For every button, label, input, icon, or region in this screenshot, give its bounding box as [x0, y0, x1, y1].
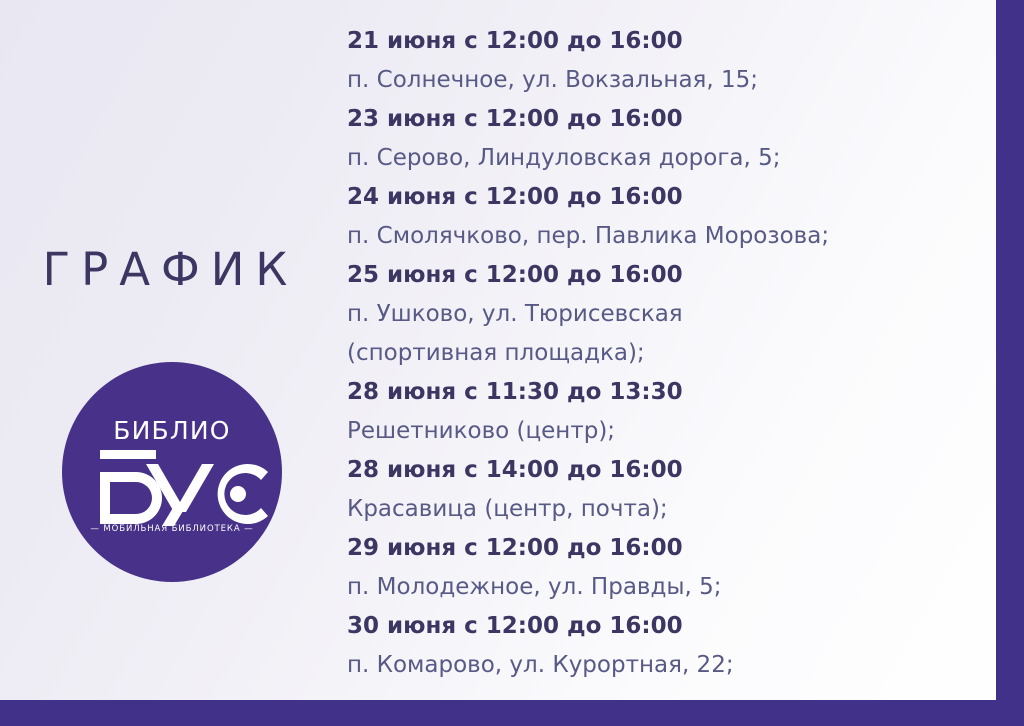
left-column: ГРАФИК БИБЛИО	[0, 0, 330, 700]
logo-word-biblio: БИБЛИО	[62, 418, 282, 443]
entry-date: 24 июня с 12:00 до 16:00	[347, 178, 987, 217]
entry-place: п. Смолячково, пер. Павлика Морозова;	[347, 217, 987, 256]
entry-date: 21 июня с 12:00 до 16:00	[347, 22, 987, 61]
entry-date: 25 июня с 12:00 до 16:00	[347, 256, 987, 295]
logo-tagline: — МОБИЛЬНАЯ БИБЛИОТЕКА —	[62, 525, 282, 534]
bus-wordmark-icon	[62, 446, 282, 526]
schedule-entry: 23 июня с 12:00 до 16:00 п. Серово, Линд…	[347, 100, 987, 178]
right-accent-bar	[996, 0, 1024, 726]
schedule-entry: 28 июня с 14:00 до 16:00 Красавица (цент…	[347, 451, 987, 529]
entry-place: п. Комарово, ул. Курортная, 22;	[347, 646, 987, 685]
schedule-entry: 28 июня с 11:30 до 13:30 Решетниково (це…	[347, 373, 987, 451]
entry-date: 23 июня с 12:00 до 16:00	[347, 100, 987, 139]
entry-place: Решетниково (центр);	[347, 412, 987, 451]
logo-word-bus	[62, 446, 282, 526]
schedule-list: 21 июня с 12:00 до 16:00 п. Солнечное, у…	[347, 22, 987, 685]
entry-place: Красавица (центр, почта);	[347, 490, 987, 529]
schedule-entry: 24 июня с 12:00 до 16:00 п. Смолячково, …	[347, 178, 987, 256]
entry-place: п. Ушково, ул. Тюрисевская (спортивная п…	[347, 295, 987, 373]
schedule-entry: 30 июня с 12:00 до 16:00 п. Комарово, ул…	[347, 607, 987, 685]
bottom-accent-bar	[0, 700, 1024, 726]
page-title: ГРАФИК	[0, 247, 330, 292]
entry-date: 30 июня с 12:00 до 16:00	[347, 607, 987, 646]
poster-canvas: ГРАФИК БИБЛИО	[0, 0, 1024, 726]
bibliobus-logo: БИБЛИО	[62, 362, 282, 582]
entry-place: п. Солнечное, ул. Вокзальная, 15;	[347, 61, 987, 100]
schedule-entry: 25 июня с 12:00 до 16:00 п. Ушково, ул. …	[347, 256, 987, 373]
entry-date: 29 июня с 12:00 до 16:00	[347, 529, 987, 568]
logo-inner: БИБЛИО	[62, 362, 282, 582]
entry-date: 28 июня с 11:30 до 13:30	[347, 373, 987, 412]
schedule-entry: 29 июня с 12:00 до 16:00 п. Молодежное, …	[347, 529, 987, 607]
entry-place: п. Серово, Линдуловская дорога, 5;	[347, 139, 987, 178]
schedule-entry: 21 июня с 12:00 до 16:00 п. Солнечное, у…	[347, 22, 987, 100]
entry-place: п. Молодежное, ул. Правды, 5;	[347, 568, 987, 607]
entry-date: 28 июня с 14:00 до 16:00	[347, 451, 987, 490]
